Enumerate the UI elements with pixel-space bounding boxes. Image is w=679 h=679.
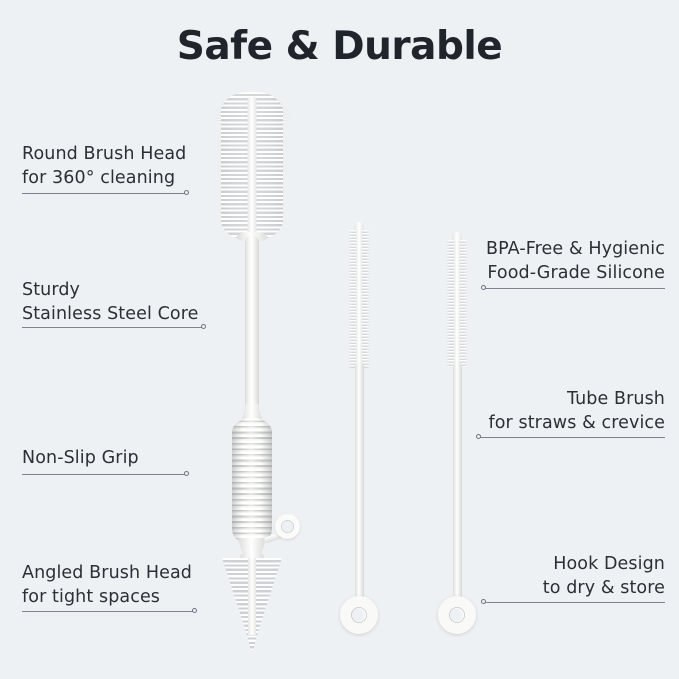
rule-bar [477,437,665,438]
rule-dot [192,608,197,613]
rule-bar [22,611,196,612]
callout-rule-round-brush-head [22,188,188,199]
callout-line-1: Angled Brush Head [22,562,192,586]
rule-dot [476,434,481,439]
angled-brush-head-art [218,558,286,650]
callout-line-1: Round Brush Head [22,143,186,167]
rule-bar [22,474,188,475]
callout-angled-brush-head: Angled Brush Head for tight spaces [22,562,192,610]
callout-rule-hook-design [482,597,665,608]
rule-dot [184,190,189,195]
round-brush-head-art [221,92,283,240]
callout-rule-angled-brush-head [22,606,196,617]
rule-dot [184,471,189,476]
callout-tube-brush: Tube Brush for straws & crevice [488,388,665,436]
rule-dot [481,599,486,604]
stainless-steel-core-art [245,236,259,420]
rule-bar [482,602,665,603]
callout-rule-non-slip-grip [22,469,188,480]
callout-bpa-free-silicone: BPA-Free & Hygienic Food-Grade Silicone [486,238,665,286]
non-slip-grip-art [232,418,272,544]
rule-dot [201,324,206,329]
callout-line-1: Sturdy [22,279,199,303]
callout-rule-bpa-free-silicone [482,283,665,294]
tube-brush-small-wire [453,362,462,602]
tube-brush-large-wire [355,362,364,602]
bottle-brush-hook-ring [275,514,300,539]
tube-brush-large-bristles [348,230,370,368]
callout-rule-stainless-steel-core [22,322,205,333]
callout-line-1: Hook Design [543,553,665,577]
callout-line-1: BPA-Free & Hygienic [486,238,665,262]
callout-rule-tube-brush [477,432,665,443]
callout-stainless-steel-core: Sturdy Stainless Steel Core [22,279,199,327]
round-head-bristles [221,92,283,240]
tube-brush-large-hook-ring [340,596,378,634]
rule-dot [481,285,486,290]
rule-bar [22,193,188,194]
infographic-canvas: Safe & Durable Round Brush Head for 360°… [0,0,679,679]
callout-line-1: Non-Slip Grip [22,447,139,471]
tube-brush-small-bristles [446,240,468,368]
callout-non-slip-grip: Non-Slip Grip [22,447,139,471]
callout-hook-design: Hook Design to dry & store [543,553,665,601]
rule-bar [22,327,205,328]
callout-line-1: Tube Brush [488,388,665,412]
rule-bar [482,288,665,289]
callout-round-brush-head: Round Brush Head for 360° cleaning [22,143,186,191]
tube-brush-small-hook-ring [438,596,476,634]
page-title: Safe & Durable [0,24,679,69]
